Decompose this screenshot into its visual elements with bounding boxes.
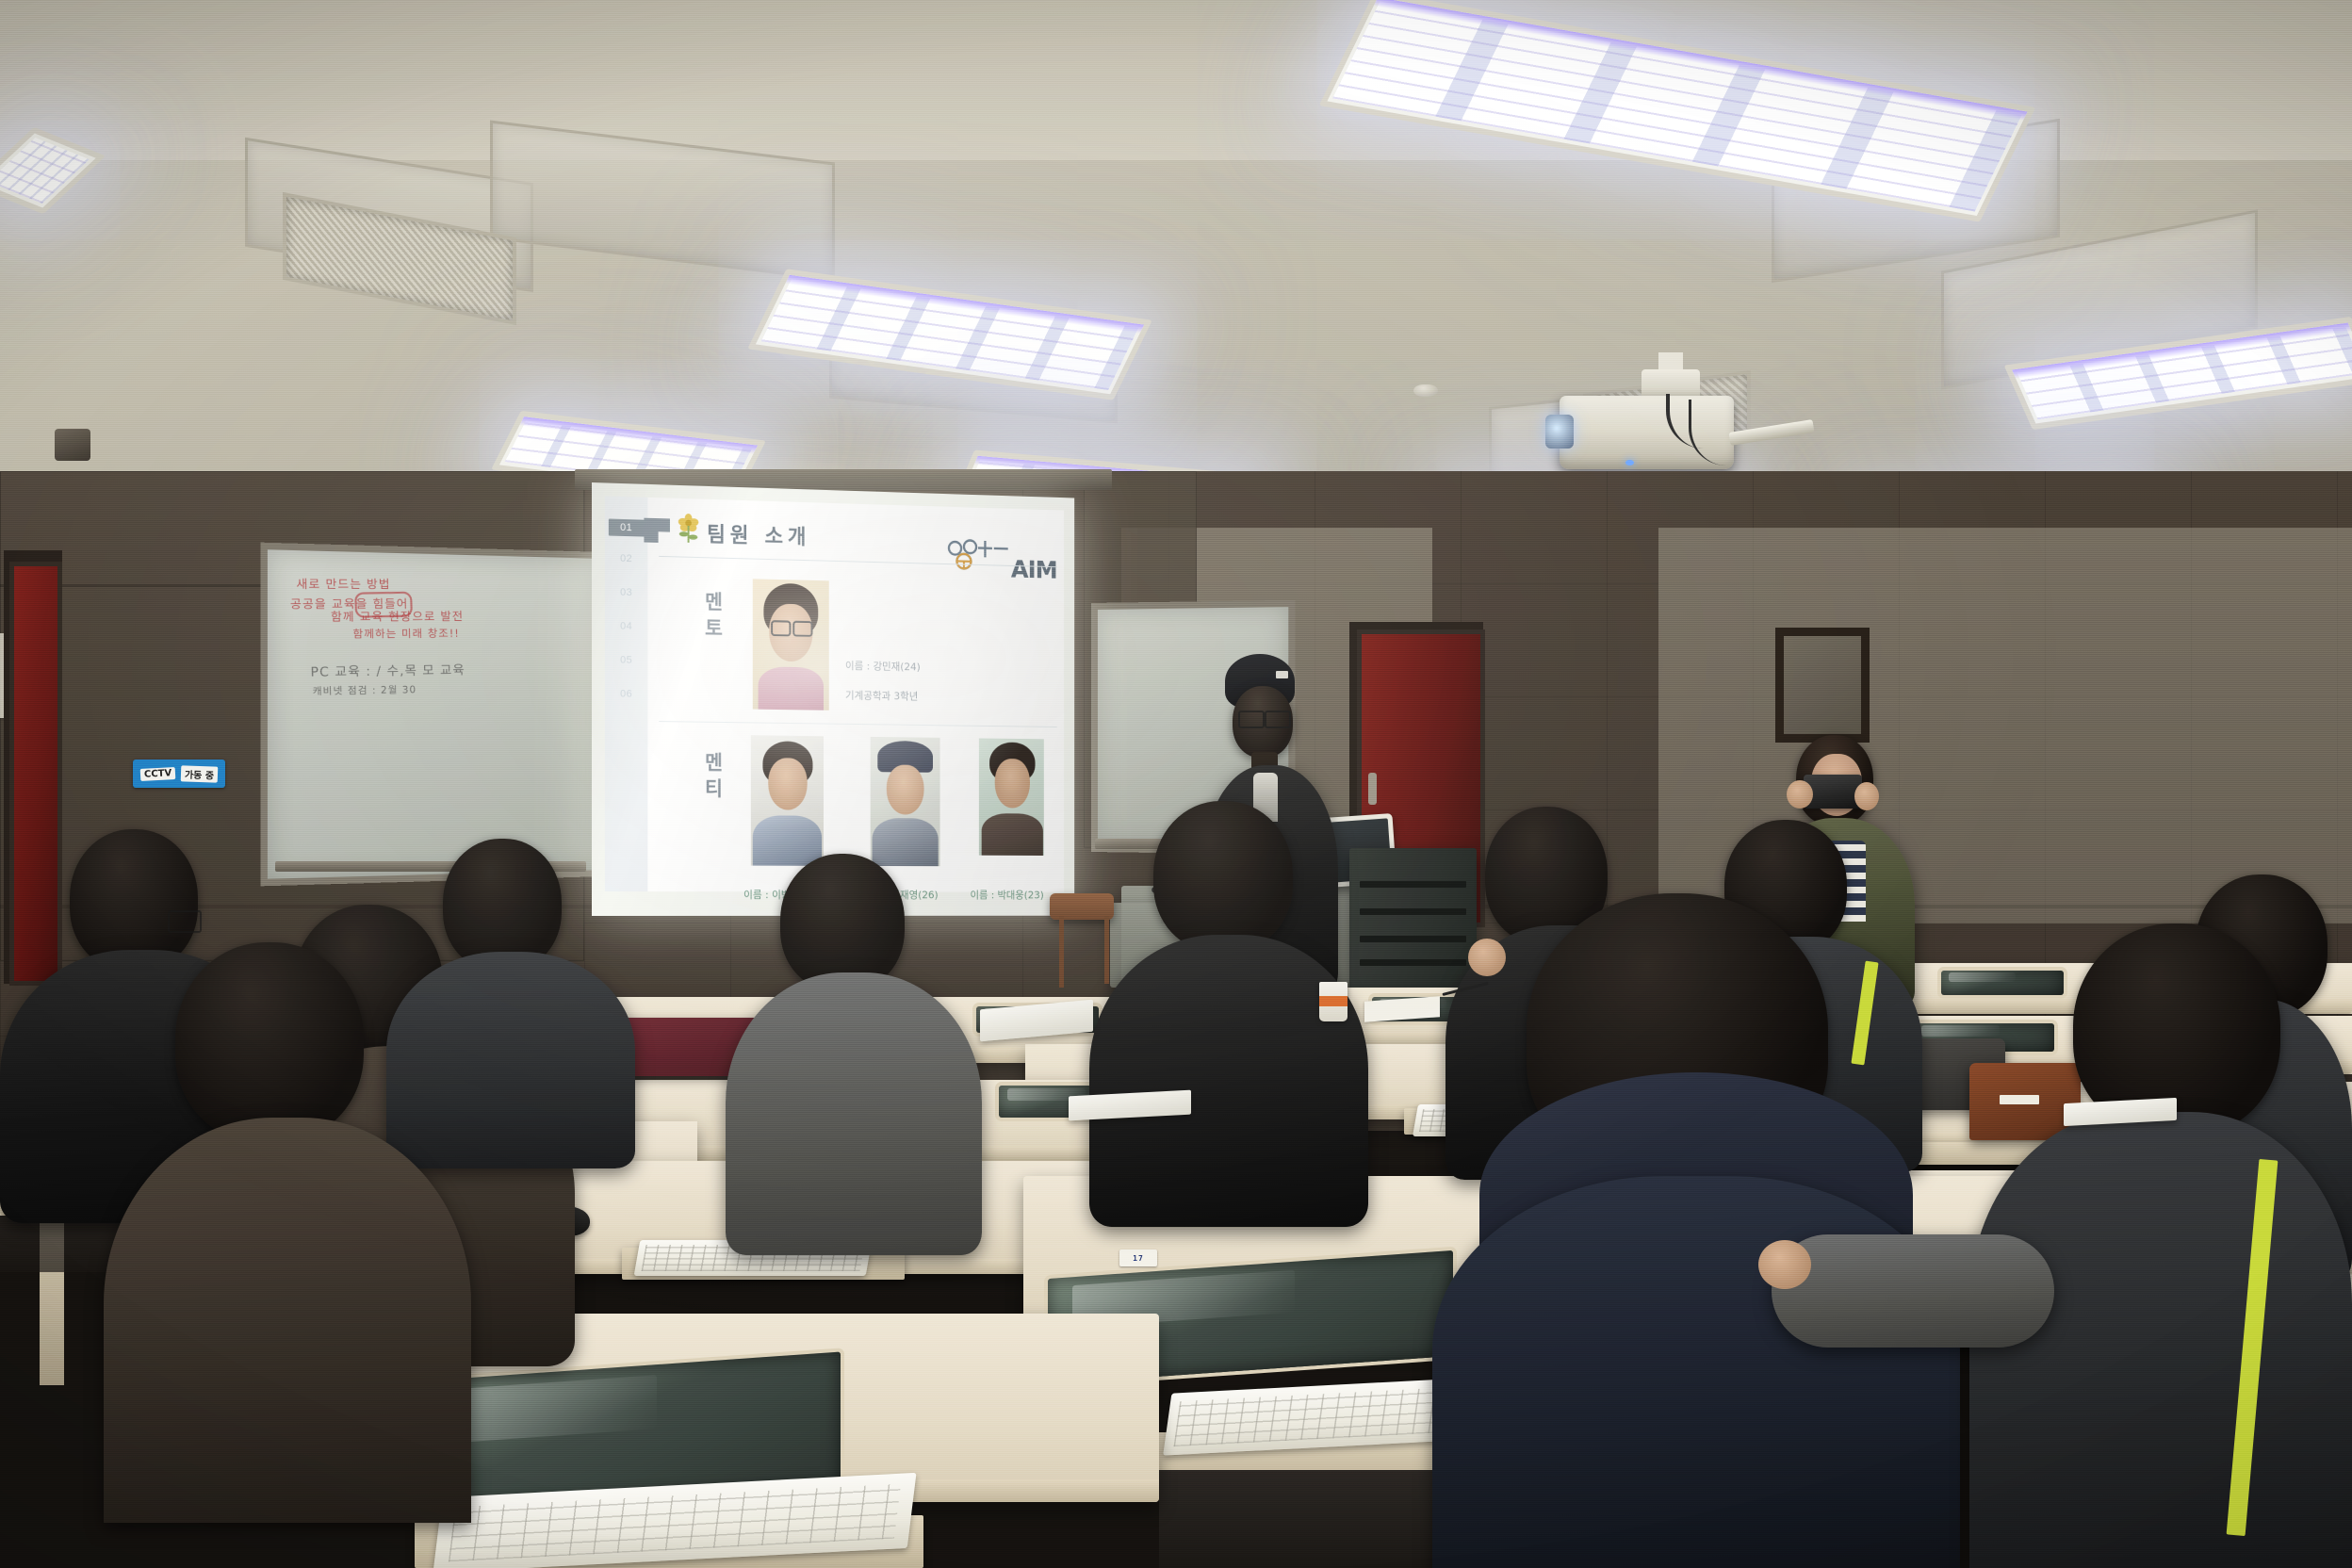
- projector-power-led-icon: [1625, 460, 1634, 465]
- aim-logo-wordmark: AIM: [1011, 556, 1057, 584]
- slide-active-tab-shape: [644, 518, 670, 544]
- cctv-sign-label-en: CCTV: [140, 767, 176, 781]
- whiteboard-schedule-line: PC 교육 : / 수,목 모 교육: [310, 660, 465, 680]
- mentor-name-caption: 이름 : 강민재(24) 기계공학과 3학년: [845, 644, 921, 704]
- eyeglasses-icon: [168, 910, 202, 933]
- student-torso: [1969, 1112, 2352, 1568]
- student-head: [443, 839, 562, 971]
- eyeglasses-icon: [1238, 710, 1265, 728]
- cctv-sign-label-ko: 가동 중: [181, 765, 219, 782]
- student-torso: [386, 952, 635, 1168]
- slide-index-06: 06: [609, 688, 645, 700]
- slide-index-04: 04: [609, 620, 645, 632]
- paper-cup[interactable]: [1319, 982, 1347, 1021]
- slide-index-02: 02: [609, 552, 645, 564]
- eyeglasses-icon: [1265, 710, 1291, 728]
- student-arm: [1772, 1234, 2054, 1347]
- slide-index-01: 01: [609, 519, 645, 537]
- eyeglasses-icon: [792, 621, 812, 637]
- wall-speaker-icon: [55, 429, 90, 461]
- whiteboard-sub-line: 캐비넷 점검 : 2월 30: [312, 681, 416, 697]
- emergency-door-left[interactable]: [9, 562, 62, 986]
- student-head: [780, 854, 905, 991]
- stool-leg: [1104, 916, 1109, 984]
- student-torso: [726, 972, 982, 1255]
- wall-picture-frame: [1775, 628, 1870, 743]
- mentee-portrait-1: [751, 735, 824, 866]
- chair-inventory-tag: [2000, 1095, 2039, 1104]
- cctv-notice-sign: CCTV 가동 중: [133, 759, 225, 788]
- stool-leg: [1059, 916, 1064, 988]
- av-equipment-rack: [1349, 848, 1477, 999]
- slide-index-03: 03: [609, 586, 645, 598]
- slide-section-mentee-label: 멘 티: [694, 749, 734, 803]
- mentor-portrait: [753, 579, 829, 710]
- woman-hand: [1854, 782, 1879, 810]
- desk-number-tag: 17: [1119, 1249, 1157, 1266]
- classroom-photo: CCTV 가동 중 새로 만드는 방법 공공을 교육을 힘들어 함께 교육 현장…: [0, 0, 2352, 1568]
- whiteboard-text-line: 함께하는 미래 창조!!: [352, 626, 460, 642]
- presentation-slide: 01 02 03 04 05 06 팀원 소개: [605, 496, 1064, 891]
- student-head: [175, 942, 364, 1142]
- slide-index-05: 05: [609, 654, 645, 666]
- whiteboard-text-line: 새로 만드는 방법: [296, 575, 390, 592]
- embedded-monitor: [1941, 971, 2064, 995]
- student-torso: [104, 1118, 471, 1523]
- student-hand: [1468, 939, 1506, 976]
- slide-title: 팀원 소개: [707, 518, 810, 551]
- student-hand: [1758, 1240, 1811, 1289]
- eyeglasses-icon: [771, 620, 791, 636]
- projector-lens-icon: [1545, 415, 1574, 449]
- mentee-portrait-2: [871, 737, 940, 866]
- slide-section-mentor-label: 멘 토: [694, 589, 734, 643]
- whiteboard-left: 새로 만드는 방법 공공을 교육을 힘들어 함께 교육 현장으로 발전 함께하는…: [260, 543, 605, 887]
- beanie-label-icon: [1276, 671, 1288, 678]
- mentee-portrait-3: [979, 738, 1044, 856]
- whiteboard-circled-note: [354, 592, 413, 618]
- smoke-detector-icon: [1413, 384, 1438, 397]
- door-handle[interactable]: [1368, 773, 1377, 805]
- mentee-caption-3: 이름 : 박대웅(23) 기계공학과 2학년: [971, 874, 1044, 916]
- slide-divider: [659, 721, 1057, 727]
- projection-screen: 01 02 03 04 05 06 팀원 소개: [592, 482, 1074, 916]
- flower-icon: [676, 514, 701, 547]
- student-torso: [1089, 935, 1368, 1227]
- woman-hand: [1787, 780, 1813, 808]
- student-head: [1153, 801, 1293, 952]
